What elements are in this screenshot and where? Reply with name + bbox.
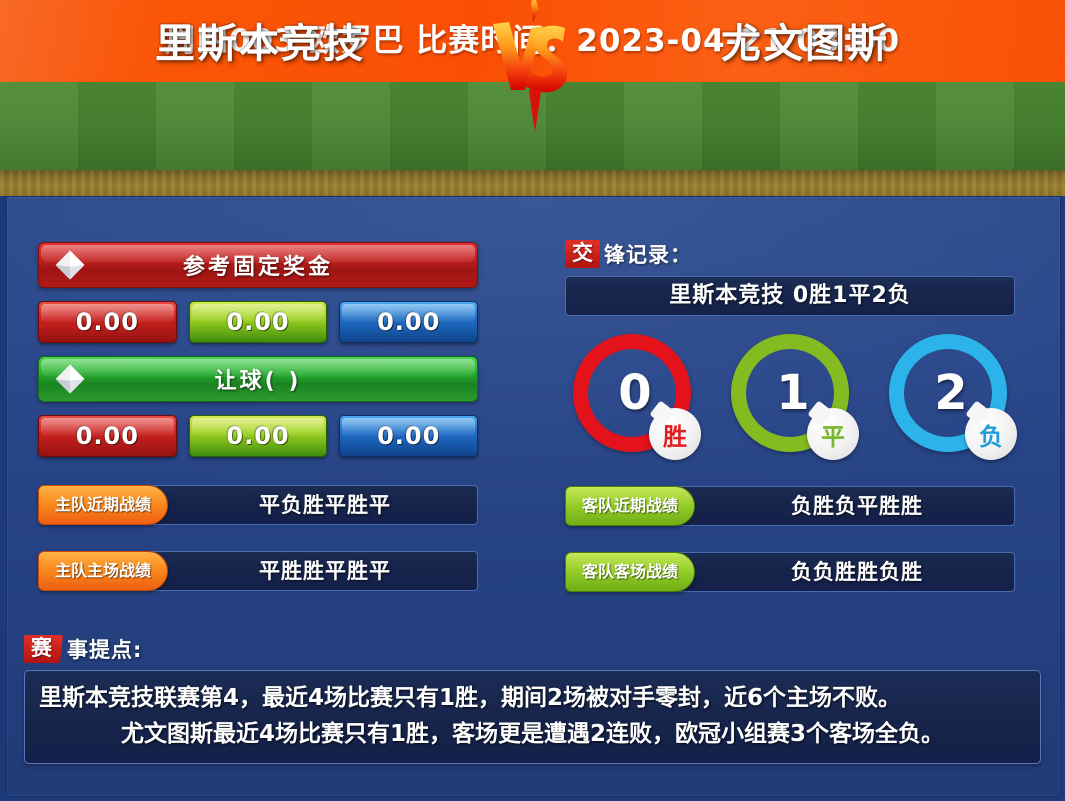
ring-label-draw-text: 平: [821, 417, 845, 452]
handicap-title: 让球( ): [215, 363, 302, 395]
away-recent-form-value: 负胜负平胜胜: [677, 486, 1015, 526]
home-recent-form-tag: 主队近期战绩: [38, 485, 168, 525]
h2h-title-text: 锋记录：: [604, 239, 692, 269]
away-team-name: 尤文图斯: [605, 0, 1005, 88]
odds-panel: 参考固定奖金 0.00 0.00 0.00 让球( ) 0.00 0.00 0.…: [38, 242, 478, 591]
ring-label-draw: 平: [807, 408, 859, 460]
home-home-form-value: 平胜胜平胜平: [150, 551, 478, 591]
ring-label-lose: 负: [965, 408, 1017, 460]
fixed-odd-win[interactable]: 0.00: [38, 301, 177, 343]
match-preview-page: 周四003 欧罗巴 比赛时间：2023-04-21 03:00 里斯本竞技 尤文…: [0, 0, 1065, 801]
ring-label-lose-text: 负: [979, 417, 1003, 452]
home-home-form-tag: 主队主场战绩: [38, 551, 168, 591]
diamond-icon: [53, 362, 87, 396]
tips-box: 里斯本竞技联赛第4，最近4场比赛只有1胜，期间2场被对手零封，近6个主场不败。 …: [24, 670, 1041, 764]
tips-title-text: 事提点:: [67, 634, 142, 664]
tips-line-1: 里斯本竞技联赛第4，最近4场比赛只有1胜，期间2场被对手零封，近6个主场不败。: [39, 680, 1026, 716]
h2h-ring-lose: 2 负: [889, 334, 1007, 452]
diamond-icon: [53, 248, 87, 282]
handicap-odd-win[interactable]: 0.00: [38, 415, 177, 457]
h2h-ring-win: 0 胜: [573, 334, 691, 452]
h2h-rings: 0 胜 1 平 2 负: [565, 334, 1015, 452]
home-home-form-row: 主队主场战绩 平胜胜平胜平: [38, 551, 478, 591]
fixed-odd-lose[interactable]: 0.00: [339, 301, 478, 343]
h2h-badge: 交: [565, 240, 600, 268]
away-away-form-value: 负负胜胜负胜: [677, 552, 1015, 592]
tips-section: 赛 事提点: 里斯本竞技联赛第4，最近4场比赛只有1胜，期间2场被对手零封，近6…: [24, 634, 1041, 764]
away-recent-form-row: 客队近期战绩 负胜负平胜胜: [565, 486, 1015, 526]
ring-label-win-text: 胜: [663, 417, 687, 452]
tips-title: 赛 事提点:: [24, 634, 1041, 664]
ring-label-win: 胜: [649, 408, 701, 460]
home-team-name: 里斯本竞技: [60, 0, 460, 88]
tips-line-2: 尤文图斯最近4场比赛只有1胜，客场更是遭遇2连败，欧冠小组赛3个客场全负。: [39, 716, 1026, 752]
handicap-odds-row: 0.00 0.00 0.00: [38, 415, 478, 457]
home-recent-form-value: 平负胜平胜平: [150, 485, 478, 525]
handicap-odd-lose[interactable]: 0.00: [339, 415, 478, 457]
h2h-summary: 里斯本竞技 0胜1平2负: [565, 276, 1015, 316]
head-to-head-panel: 交 锋记录： 里斯本竞技 0胜1平2负 0 胜 1 平 2 负 客队近期战绩: [565, 240, 1015, 592]
handicap-header: 让球( ): [38, 356, 478, 402]
away-away-form-row: 客队客场战绩 负负胜胜负胜: [565, 552, 1015, 592]
handicap-odd-draw[interactable]: 0.00: [189, 415, 328, 457]
tips-badge: 赛: [24, 635, 63, 663]
head-to-head-title: 交 锋记录：: [565, 240, 1015, 268]
vs-icon: [473, 0, 593, 134]
home-recent-form-row: 主队近期战绩 平负胜平胜平: [38, 485, 478, 525]
fixed-bonus-odds-row: 0.00 0.00 0.00: [38, 301, 478, 343]
h2h-ring-draw: 1 平: [731, 334, 849, 452]
fixed-bonus-header: 参考固定奖金: [38, 242, 478, 288]
away-recent-form-tag: 客队近期战绩: [565, 486, 695, 526]
fixed-bonus-title: 参考固定奖金: [183, 249, 333, 281]
away-away-form-tag: 客队客场战绩: [565, 552, 695, 592]
fixed-odd-draw[interactable]: 0.00: [189, 301, 328, 343]
